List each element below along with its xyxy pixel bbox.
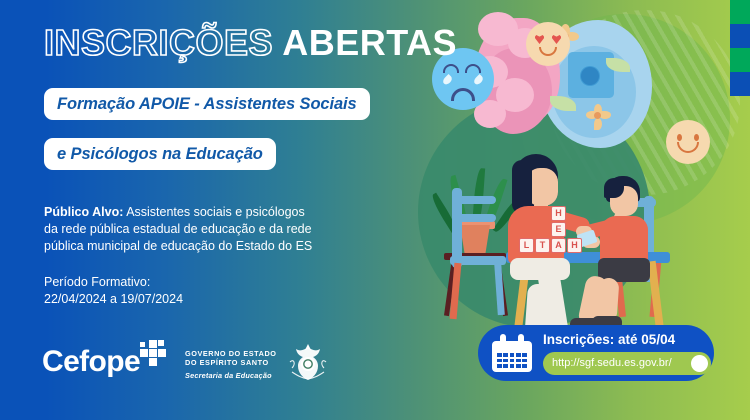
promotional-banner: H E A L T H INSCRIÇÕES ABERTAS Formação … bbox=[0, 0, 750, 420]
period-paragraph: Período Formativo: 22/04/2024 a 19/07/20… bbox=[44, 274, 183, 308]
cefope-plus-icon bbox=[137, 340, 171, 370]
registration-deadline: Inscrições: até 05/04 bbox=[543, 332, 711, 347]
registration-url-pill[interactable]: http://sgf.sedu.es.gov.br/ bbox=[543, 352, 711, 375]
cefope-wordmark: Cefope bbox=[42, 347, 140, 377]
gov-line-1: GOVERNO DO ESTADO bbox=[185, 349, 277, 359]
coat-of-arms-icon bbox=[286, 342, 330, 386]
gov-line-2: DO ESPÍRITO SANTO bbox=[185, 358, 277, 368]
corner-block-1 bbox=[730, 0, 750, 24]
course-title-line-2: e Psicólogos na Educação bbox=[44, 138, 276, 170]
badge-text-group: Inscrições: até 05/04 http://sgf.sedu.es… bbox=[543, 332, 711, 375]
registration-badge[interactable]: Inscrições: até 05/04 http://sgf.sedu.es… bbox=[478, 325, 714, 381]
government-text: GOVERNO DO ESTADO DO ESPÍRITO SANTO Secr… bbox=[185, 349, 277, 380]
calendar-icon bbox=[492, 334, 532, 372]
course-title-line-1: Formação APOIE - Assistentes Sociais bbox=[44, 88, 370, 120]
smiling-face-emoji bbox=[666, 120, 710, 164]
audience-label: Público Alvo: bbox=[44, 205, 123, 219]
headline-solid-word: ABERTAS bbox=[282, 22, 457, 63]
url-pill-dot bbox=[691, 355, 708, 372]
small-flower bbox=[586, 104, 610, 128]
course-title-text-2: e Psicólogos na Educação bbox=[57, 145, 263, 164]
corner-block-2 bbox=[730, 24, 750, 48]
corner-block-4 bbox=[730, 72, 750, 96]
headline-outlined-word: INSCRIÇÕES bbox=[44, 22, 273, 63]
registration-url-text: http://sgf.sedu.es.gov.br/ bbox=[552, 357, 672, 369]
headline: INSCRIÇÕES ABERTAS bbox=[44, 22, 457, 64]
course-title-text-1: Formação APOIE - Assistentes Sociais bbox=[57, 95, 357, 114]
audience-paragraph: Público Alvo: Assistentes sociais e psic… bbox=[44, 204, 312, 255]
flower-core bbox=[581, 67, 599, 85]
corner-color-blocks bbox=[730, 0, 750, 96]
cefope-logo: Cefope bbox=[42, 340, 171, 377]
government-logo: GOVERNO DO ESTADO DO ESPÍRITO SANTO Secr… bbox=[185, 342, 330, 386]
corner-block-3 bbox=[730, 48, 750, 72]
gov-line-3: Secretaria da Educação bbox=[185, 371, 277, 380]
heart-eyes-emoji bbox=[526, 22, 570, 66]
